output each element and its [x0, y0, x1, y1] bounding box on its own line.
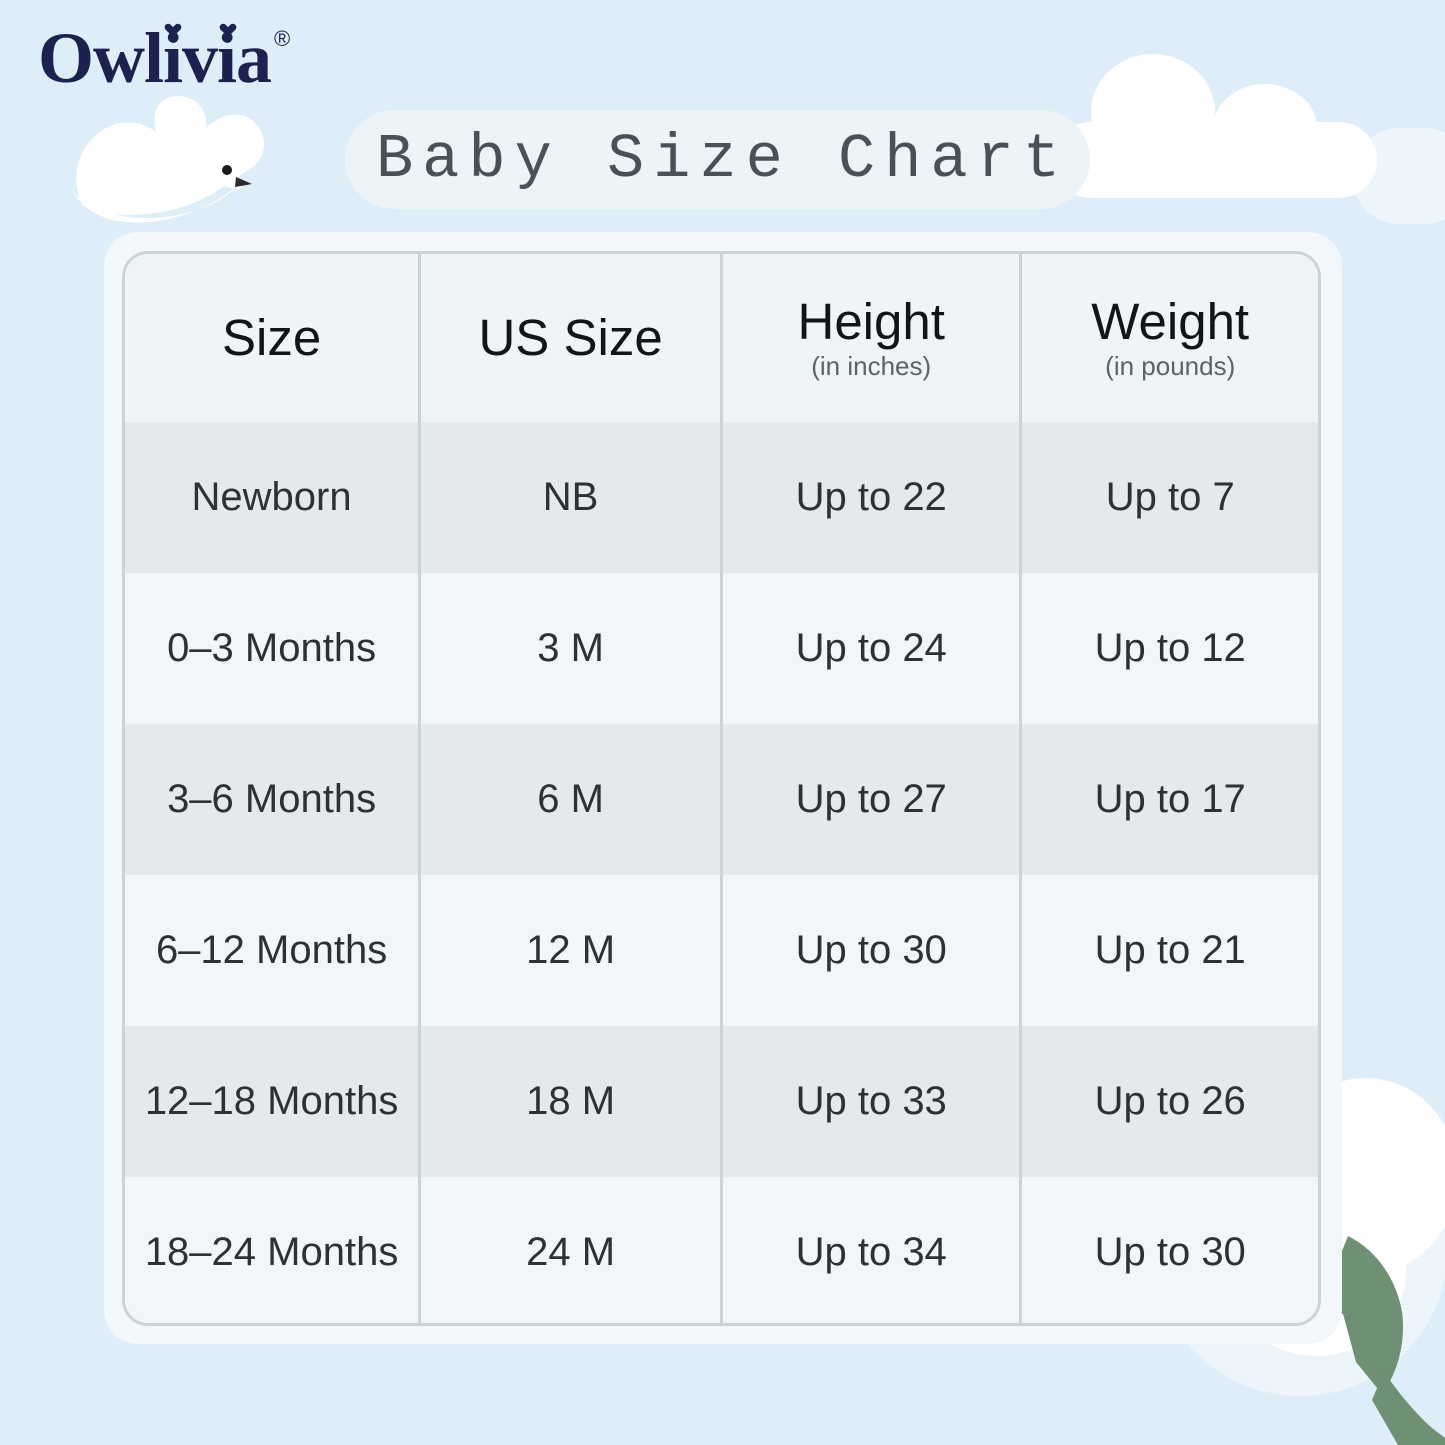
cell-us-size: 3 M — [420, 573, 722, 724]
cell-height: Up to 22 — [721, 422, 1020, 573]
cell-size: 3–6 Months — [125, 724, 420, 875]
cell-us-size: 6 M — [420, 724, 722, 875]
cloud-icon — [1052, 54, 1377, 198]
table-header: Size US Size Height (in inches) Weight (… — [125, 254, 1318, 422]
column-header-weight: Weight (in pounds) — [1021, 254, 1318, 422]
column-header-label: Size — [125, 312, 418, 364]
cell-us-size: 24 M — [420, 1177, 722, 1326]
heart-icon — [168, 24, 181, 37]
brand-logo: Owlivia ® — [38, 22, 290, 94]
title-banner: Baby Size Chart — [345, 110, 1090, 209]
size-chart-table: Size US Size Height (in inches) Weight (… — [125, 254, 1318, 1326]
column-header-unit: (in pounds) — [1022, 352, 1318, 381]
column-header-label: Weight — [1022, 296, 1318, 348]
cell-weight: Up to 21 — [1021, 875, 1318, 1026]
column-header-unit: (in inches) — [723, 352, 1019, 381]
column-header-height: Height (in inches) — [721, 254, 1020, 422]
cell-size: Newborn — [125, 422, 420, 573]
cell-us-size: 18 M — [420, 1026, 722, 1177]
cell-height: Up to 24 — [721, 573, 1020, 724]
page-title: Baby Size Chart — [366, 124, 1069, 195]
table-body: Newborn NB Up to 22 Up to 7 0–3 Months 3… — [125, 422, 1318, 1326]
table-row: 0–3 Months 3 M Up to 24 Up to 12 — [125, 573, 1318, 724]
cell-weight: Up to 12 — [1021, 573, 1318, 724]
table-row: 3–6 Months 6 M Up to 27 Up to 17 — [125, 724, 1318, 875]
dove-icon — [72, 96, 264, 223]
size-chart-container: Size US Size Height (in inches) Weight (… — [122, 251, 1321, 1326]
cell-weight: Up to 26 — [1021, 1026, 1318, 1177]
brand-name: Owlivia — [38, 18, 271, 98]
cell-us-size: NB — [420, 422, 722, 573]
table-row: 6–12 Months 12 M Up to 30 Up to 21 — [125, 875, 1318, 1026]
cell-size: 12–18 Months — [125, 1026, 420, 1177]
cell-height: Up to 30 — [721, 875, 1020, 1026]
cell-height: Up to 27 — [721, 724, 1020, 875]
cell-us-size: 12 M — [420, 875, 722, 1026]
cell-height: Up to 33 — [721, 1026, 1020, 1177]
cell-weight: Up to 7 — [1021, 422, 1318, 573]
cell-height: Up to 34 — [721, 1177, 1020, 1326]
table-row: 12–18 Months 18 M Up to 33 Up to 26 — [125, 1026, 1318, 1177]
cloud-faint-icon — [1352, 128, 1445, 224]
column-header-size: Size — [125, 254, 420, 422]
table-row: Newborn NB Up to 22 Up to 7 — [125, 422, 1318, 573]
brand-wordmark: Owlivia — [38, 22, 271, 94]
cell-size: 18–24 Months — [125, 1177, 420, 1326]
table-row: 18–24 Months 24 M Up to 34 Up to 30 — [125, 1177, 1318, 1326]
column-header-label: US Size — [421, 312, 720, 364]
column-header-label: Height — [723, 296, 1019, 348]
cell-weight: Up to 17 — [1021, 724, 1318, 875]
table-header-row: Size US Size Height (in inches) Weight (… — [125, 254, 1318, 422]
registered-trademark-symbol: ® — [274, 28, 290, 50]
cell-size: 6–12 Months — [125, 875, 420, 1026]
cell-size: 0–3 Months — [125, 573, 420, 724]
column-header-us-size: US Size — [420, 254, 722, 422]
heart-icon — [223, 24, 236, 37]
cell-weight: Up to 30 — [1021, 1177, 1318, 1326]
